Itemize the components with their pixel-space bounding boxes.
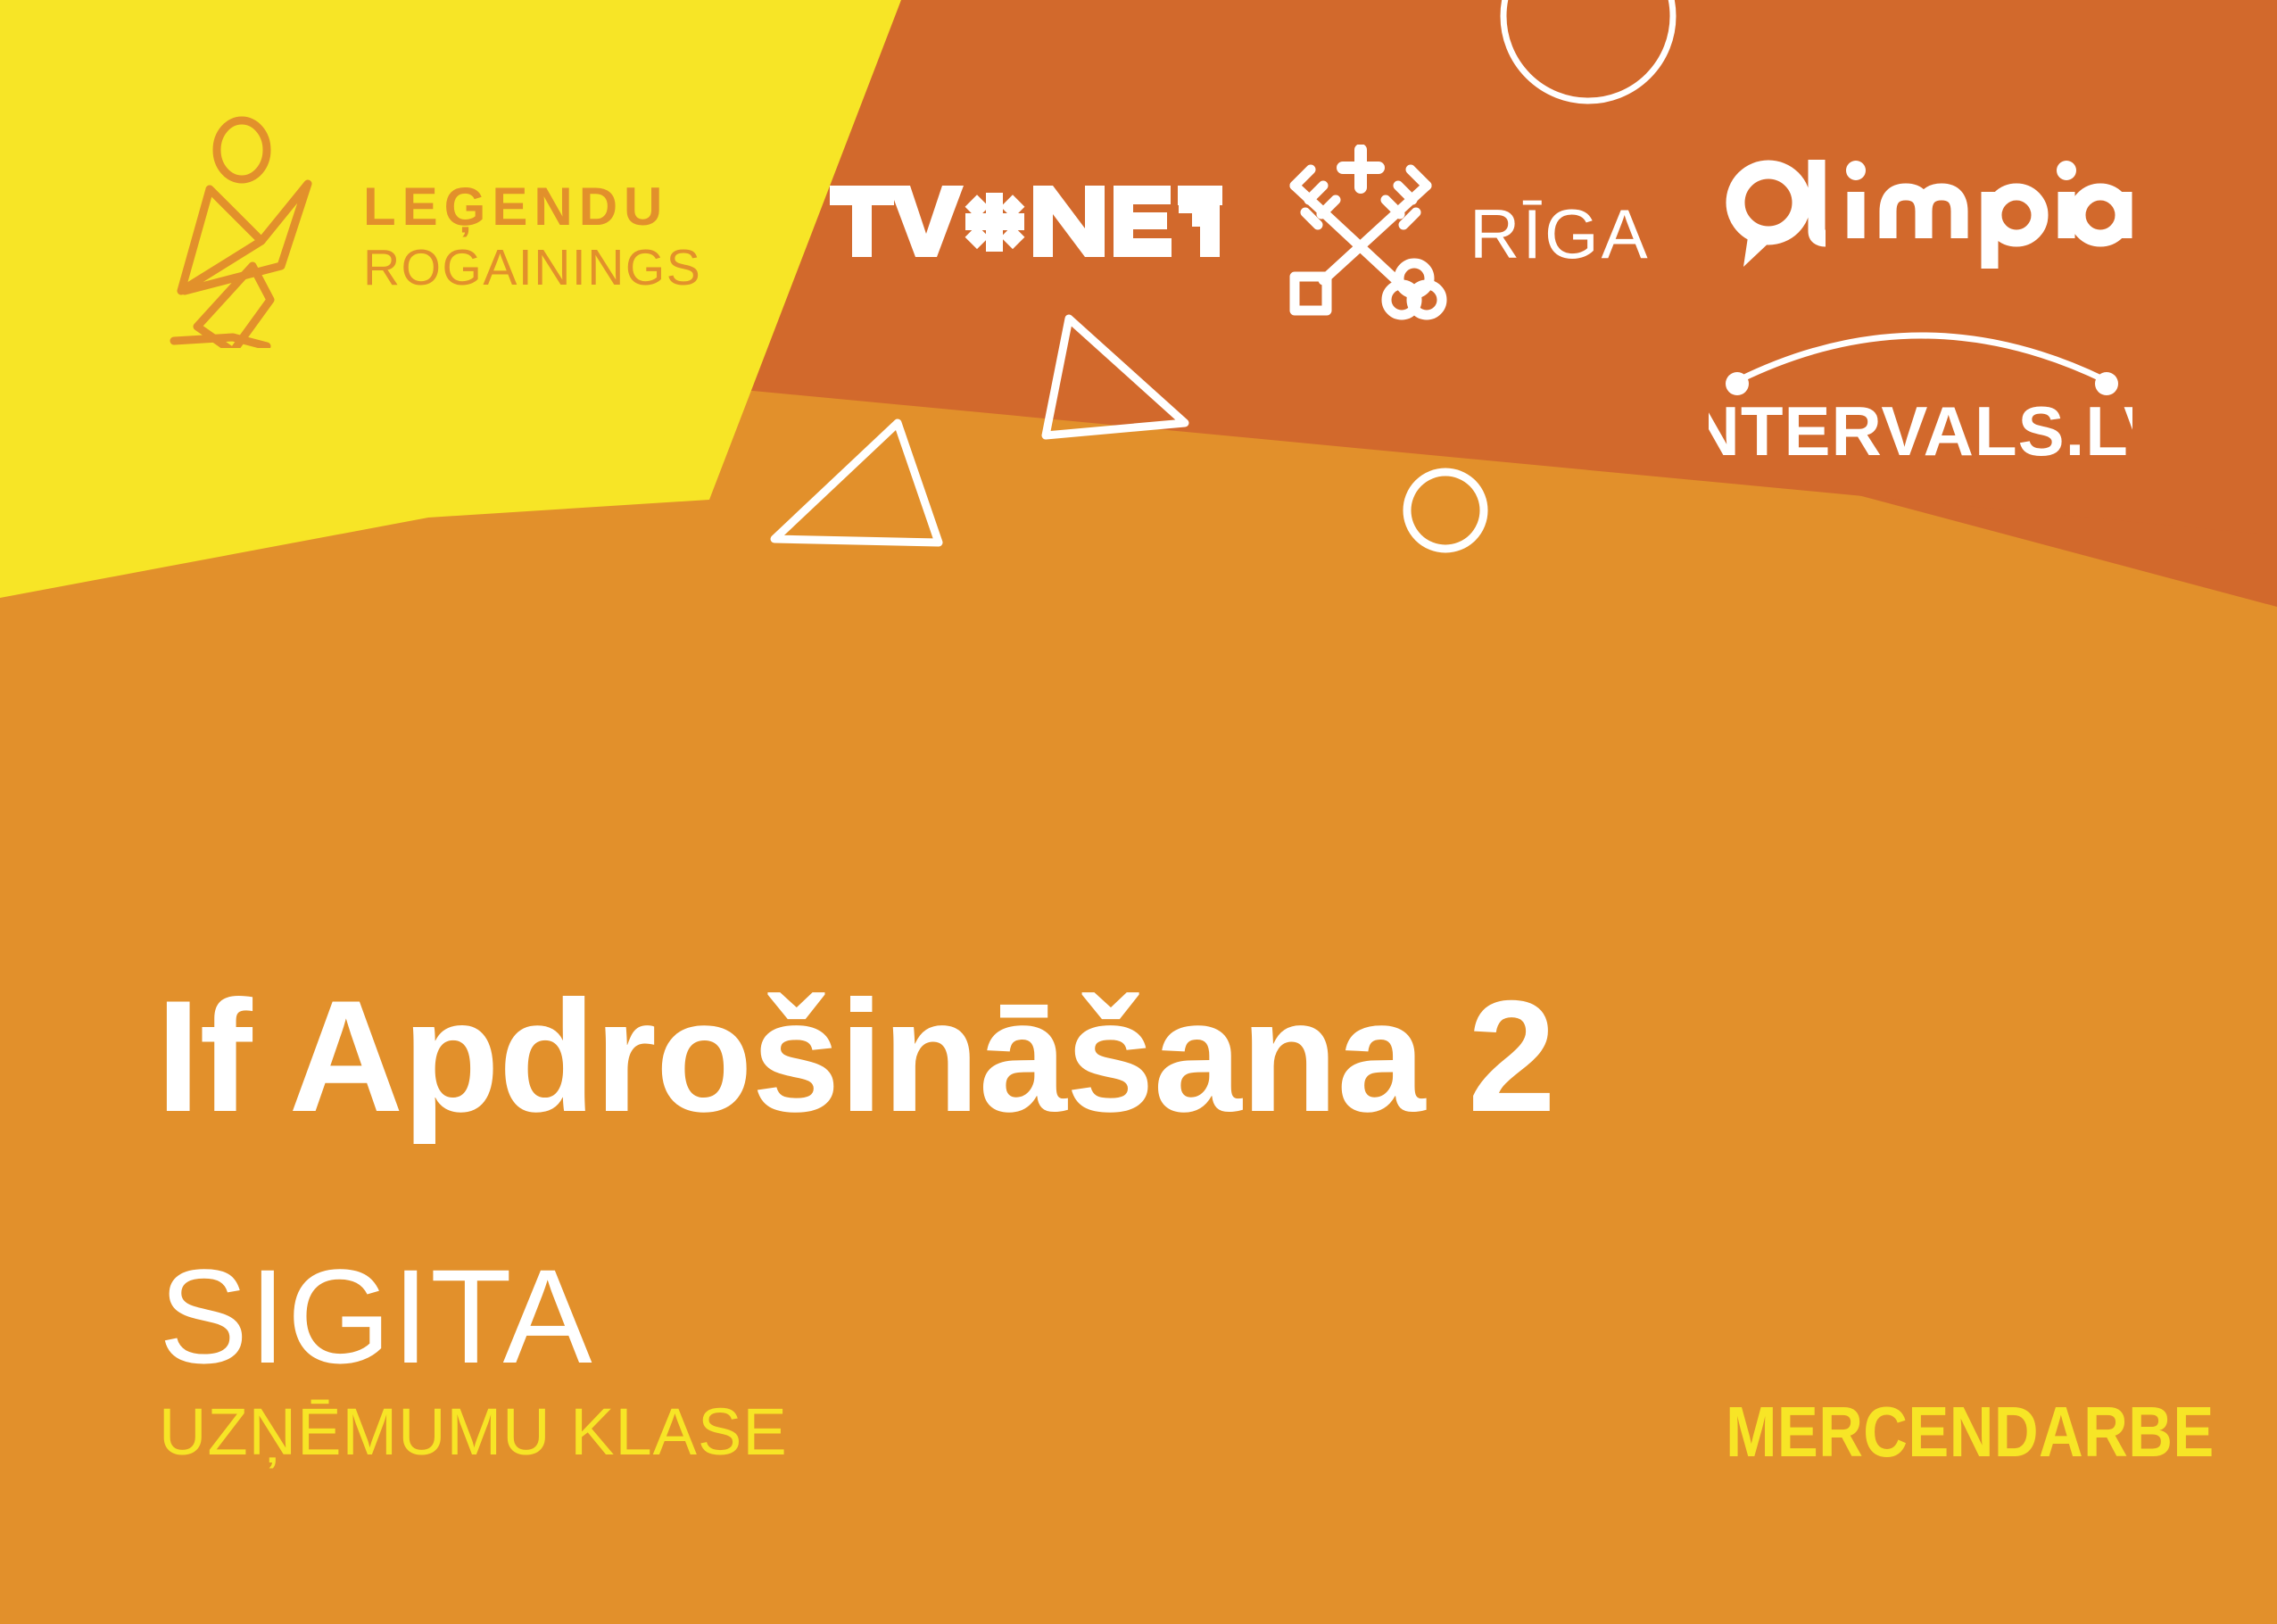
riga-wordmark: RĪGA	[1470, 194, 1651, 275]
event-tag: MERCENDARBE	[1726, 1396, 2215, 1468]
brand-line-primary: LEĢENDU	[363, 180, 701, 234]
class-label: UZŅĒMUMU KLASE	[159, 1399, 788, 1465]
sponsor-olimpia	[1722, 156, 2132, 272]
rogaining-runner-icon	[156, 116, 335, 348]
olimpia-wordmark	[1722, 156, 2132, 272]
sponsor-intervals: INTERVALS.LV	[1709, 321, 2132, 468]
poster-canvas: LEĢENDU ROGAININGS	[0, 0, 2277, 1624]
sponsor-riga: RĪGA	[1271, 145, 1651, 323]
intervals-arc-logo: INTERVALS.LV	[1709, 321, 2132, 468]
brand-wordmark: LEĢENDU ROGAININGS	[363, 171, 701, 294]
participant-name: SIGITA	[159, 1249, 593, 1383]
tvnet-plus-logo	[830, 178, 1222, 264]
sponsor-tvnet	[830, 178, 1222, 264]
svg-text:INTERVALS.LV: INTERVALS.LV	[1709, 392, 2132, 468]
brand-lockup: LEĢENDU ROGAININGS	[156, 116, 701, 348]
sponsor-strip: RĪGA	[830, 134, 2195, 473]
page-title: If Apdrošināšana 2	[156, 977, 1555, 1136]
brand-line-secondary: ROGAININGS	[363, 243, 701, 294]
riga-crossed-keys-icon	[1271, 145, 1450, 323]
